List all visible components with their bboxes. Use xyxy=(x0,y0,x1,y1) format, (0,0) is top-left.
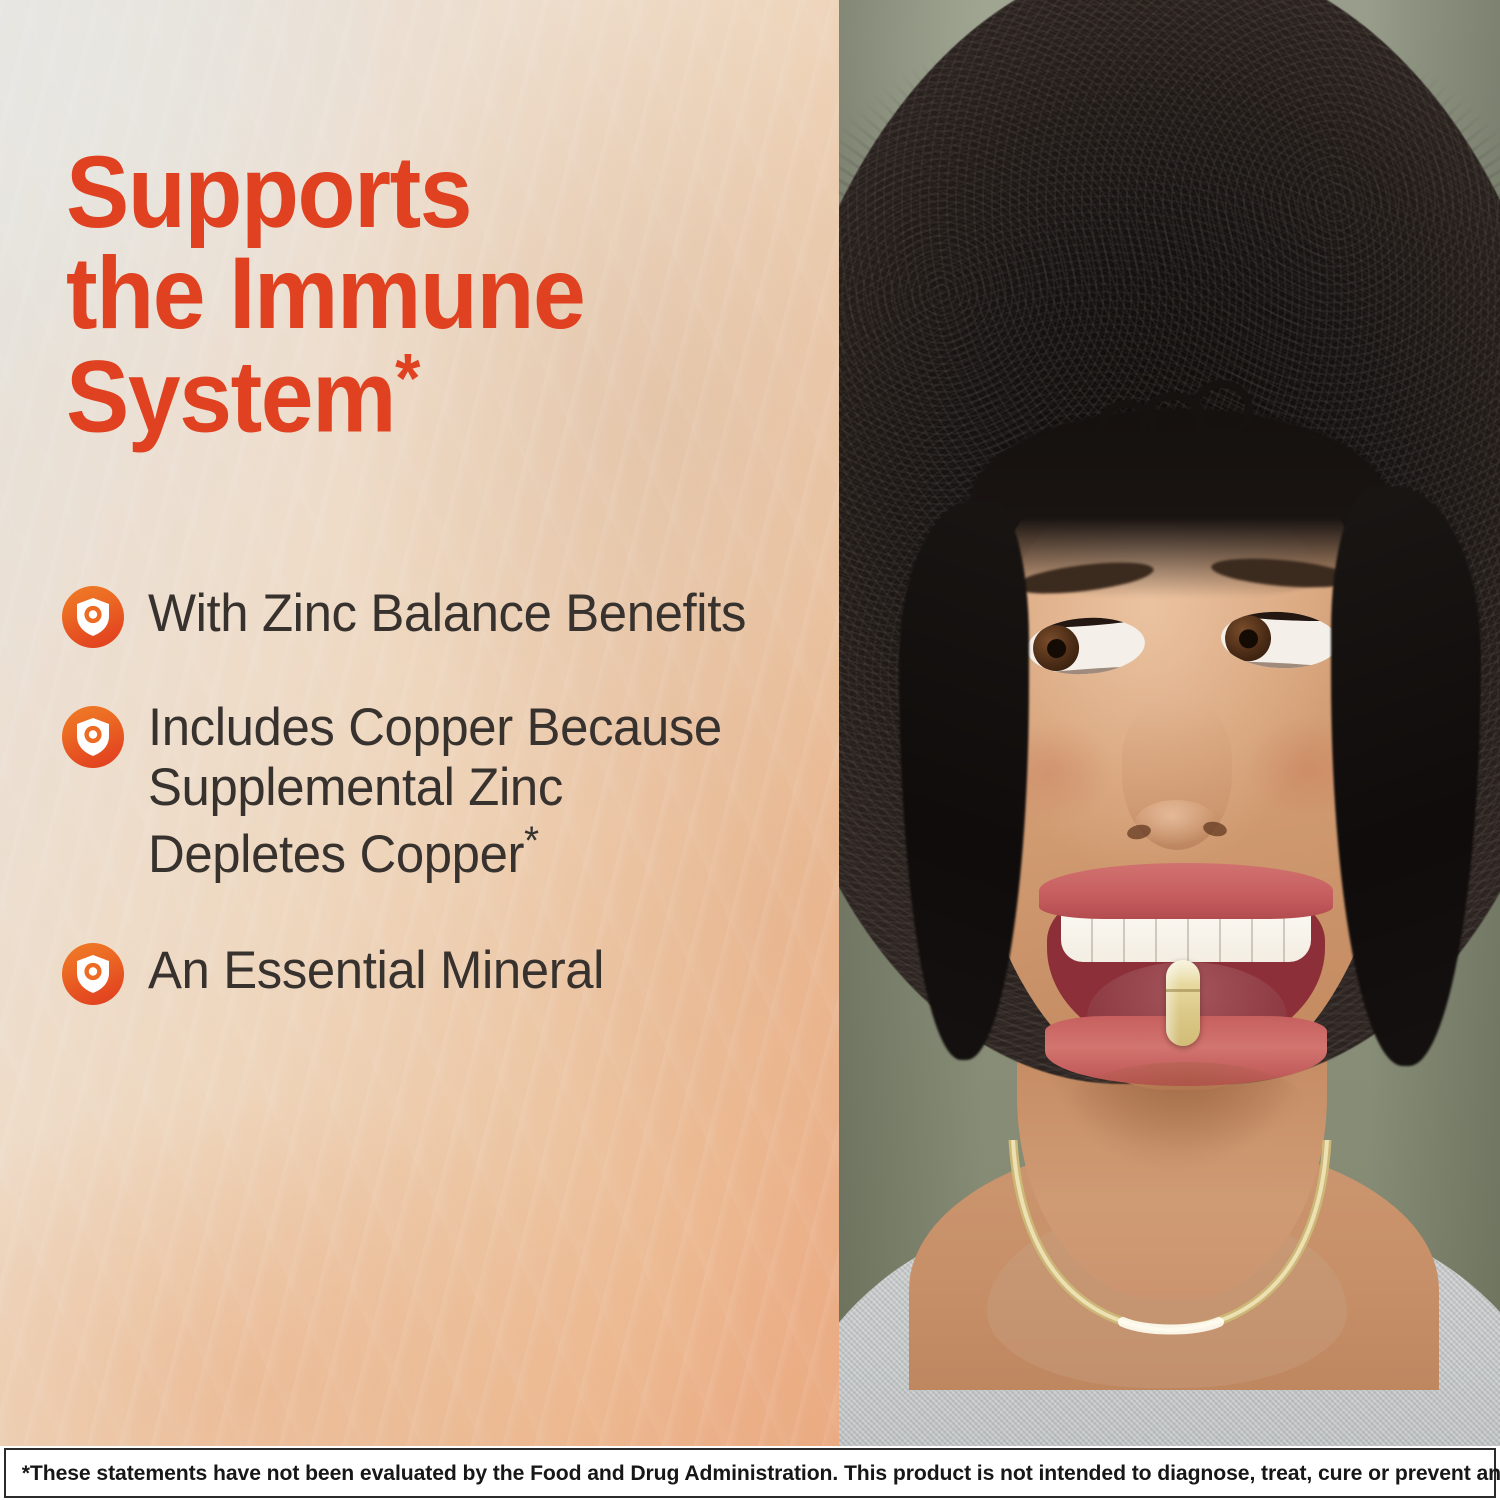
list-item: Includes Copper Because Supplemental Zin… xyxy=(62,698,822,885)
benefits-list: With Zinc Balance Benefits Includes Copp… xyxy=(62,578,822,1005)
shield-immune-icon xyxy=(62,586,124,648)
lifestyle-photo xyxy=(839,0,1500,1446)
list-item: With Zinc Balance Benefits xyxy=(62,578,822,648)
list-item-text: An Essential Mineral xyxy=(148,941,604,1000)
shield-immune-icon xyxy=(62,706,124,768)
footer: *These statements have not been evaluate… xyxy=(0,1446,1500,1500)
chin-shadow xyxy=(1064,1062,1309,1152)
upper-lip xyxy=(1039,863,1333,919)
list-item-label: Includes Copper Because Supplemental Zin… xyxy=(148,698,762,885)
list-item-label: An Essential Mineral xyxy=(148,935,604,1001)
disclaimer-text: *These statements have not been evaluate… xyxy=(6,1461,1500,1486)
list-item-text: With Zinc Balance Benefits xyxy=(148,584,746,643)
hair-curl xyxy=(1191,380,1253,438)
headline-text: Supports the Immune System xyxy=(66,135,584,453)
shield-immune-icon xyxy=(62,943,124,1005)
list-item: An Essential Mineral xyxy=(62,935,822,1005)
necklace xyxy=(1005,1140,1335,1360)
list-item-label: With Zinc Balance Benefits xyxy=(148,578,746,644)
hair-curl xyxy=(1097,400,1157,456)
product-feature-graphic: Supports the Immune System* With Zinc Ba… xyxy=(0,0,1500,1500)
capsule-seam-band xyxy=(1166,989,1200,992)
list-item-asterisk: * xyxy=(524,819,539,863)
headline-asterisk: * xyxy=(395,339,420,417)
page-title: Supports the Immune System* xyxy=(66,142,754,447)
disclaimer-box: *These statements have not been evaluate… xyxy=(4,1448,1496,1498)
supplement-capsule xyxy=(1166,960,1200,1046)
capsule-highlight xyxy=(1166,960,1200,1046)
list-item-text: Includes Copper Because Supplemental Zin… xyxy=(148,698,722,884)
left-content-panel: Supports the Immune System* With Zinc Ba… xyxy=(0,0,839,1446)
